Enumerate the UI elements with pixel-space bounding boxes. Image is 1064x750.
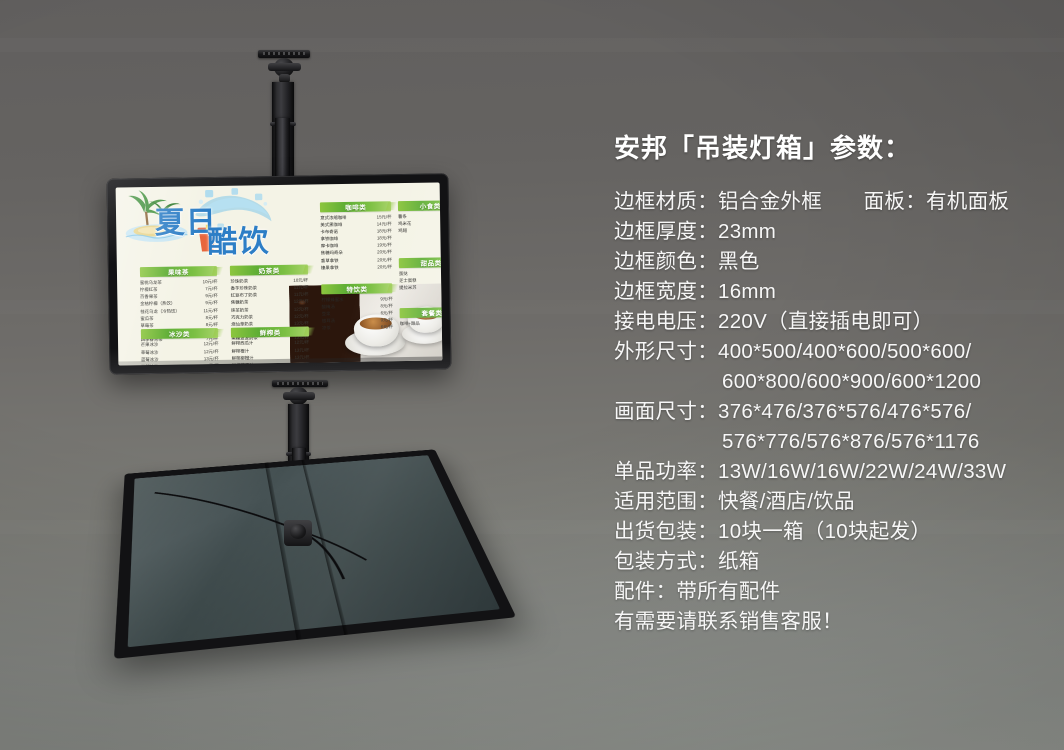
spec-line: 边框颜色：黑色 bbox=[614, 247, 1044, 277]
spec-line: 包装方式：纸箱 bbox=[614, 547, 1044, 577]
menu-section-header: 果味茶 bbox=[140, 266, 218, 277]
spec-title: 安邦「吊装灯箱」参数： bbox=[614, 128, 1044, 165]
spec-line: 配件：带所有配件 bbox=[614, 577, 1044, 607]
menu-item-list: 蛋挞6元/个芝士蛋糕15元/块提拉米苏18元/块 bbox=[399, 269, 443, 291]
menu-item-row: 提拉米苏18元/块 bbox=[399, 283, 442, 291]
menu-section-title: 特饮类 bbox=[321, 283, 392, 294]
menu-item-row: 凉茶6元/杯 bbox=[322, 323, 393, 331]
spec-line: 适用范围：快餐/酒店/饮品 bbox=[614, 487, 1044, 517]
menu-item-list: 咖啡+甜品22元/套 bbox=[400, 319, 443, 327]
menu-section-header: 冰沙类 bbox=[141, 328, 219, 339]
menu-section: 甜品类蛋挞6元/个芝士蛋糕15元/块提拉米苏18元/块 bbox=[399, 257, 443, 291]
menu-section-title: 小食类 bbox=[398, 200, 443, 211]
menu-item-list: 意式浓缩咖啡15元/杯美式黑咖啡14元/杯卡布奇诺18元/杯拿铁咖啡18元/杯摩… bbox=[320, 213, 392, 271]
plate-holes bbox=[277, 382, 323, 385]
plate-holes bbox=[263, 52, 305, 55]
pivot-knob-icon bbox=[268, 63, 301, 71]
mount-plate-icon bbox=[272, 380, 328, 387]
menu-section-header: 套餐类 bbox=[399, 307, 442, 318]
spec-line: 600*800/600*900/600*1200 bbox=[614, 367, 1044, 397]
menu-item-row: 榛果拿铁20元/杯 bbox=[321, 263, 392, 271]
menu-section-title: 奶茶类 bbox=[230, 265, 308, 276]
menu-item-name: 凉茶 bbox=[322, 324, 331, 331]
menu-section-title: 套餐类 bbox=[399, 307, 442, 318]
menu-section-title: 冰沙类 bbox=[141, 328, 219, 339]
menu-item-price: 6元/杯 bbox=[377, 323, 394, 330]
menu-section-header: 咖啡类 bbox=[320, 201, 391, 212]
menu-section: 套餐类咖啡+甜品22元/套 bbox=[399, 307, 442, 327]
menu-section-title: 鲜榨类 bbox=[231, 327, 309, 338]
spec-line-list: 边框材质：铝合金外框 面板：有机面板边框厚度：23mm边框颜色：黑色边框宽度：1… bbox=[614, 187, 1044, 637]
menu-hero-title-2: 酷饮 bbox=[207, 216, 270, 261]
menu-section: 咖啡类意式浓缩咖啡15元/杯美式黑咖啡14元/杯卡布奇诺18元/杯拿铁咖啡18元… bbox=[320, 201, 392, 271]
spec-line: 画面尺寸：376*476/376*576/476*576/ bbox=[614, 397, 1044, 427]
menu-item-list: 薯条10元/份鸡米花12元/份鸡翅15元/份 bbox=[398, 212, 442, 234]
menu-section-header: 甜品类 bbox=[399, 257, 443, 268]
menu-item-name: 提拉米苏 bbox=[399, 284, 417, 291]
menu-item-row: 咖啡+甜品22元/套 bbox=[400, 319, 443, 327]
menu-section-title: 甜品类 bbox=[399, 257, 443, 268]
ceiling-plate-icon bbox=[258, 50, 310, 58]
menu-section-header: 小食类 bbox=[398, 200, 443, 211]
spec-line: 外形尺寸：400*500/400*600/500*600/ bbox=[614, 337, 1044, 367]
spec-line: 边框厚度：23mm bbox=[614, 217, 1044, 247]
menu-item-list: 柠檬蜂蜜水9元/杯酸梅汤8元/杯豆浆6元/杯银耳汤9元/杯凉茶6元/杯 bbox=[321, 295, 393, 332]
spec-line: 单品功率：13W/16W/16W/22W/24W/33W bbox=[614, 457, 1044, 487]
menu-section: 小食类薯条10元/份鸡米花12元/份鸡翅15元/份 bbox=[398, 200, 443, 234]
menu-section-header: 奶茶类 bbox=[230, 265, 308, 276]
menu-item-name: 榛果拿铁 bbox=[321, 264, 339, 271]
spec-line: 接电电压：220V（直接插电即可） bbox=[614, 307, 1044, 337]
spec-line: 边框宽度：16mm bbox=[614, 277, 1044, 307]
background-band bbox=[0, 38, 1064, 52]
menu-section-header: 特饮类 bbox=[321, 283, 392, 294]
spec-line: 出货包装：10块一箱（10块起发） bbox=[614, 517, 1044, 547]
menu-section-title: 咖啡类 bbox=[320, 201, 391, 212]
spec-line: 576*776/576*876/576*1176 bbox=[614, 427, 1044, 457]
menu-panel: 夏日 酷饮 果味茶蜜桃乌龙茶10元/杯柠檬红茶7元/杯百香果茶9元/杯金桔柠檬（… bbox=[116, 182, 443, 365]
menu-item-name: 桂花乌龙（冷热饮） bbox=[140, 307, 180, 315]
menu-item-name: 咖啡+甜品 bbox=[400, 319, 420, 326]
product-photo-scene: 夏日 酷饮 果味茶蜜桃乌龙茶10元/杯柠檬红茶7元/杯百香果茶9元/杯金桔柠檬（… bbox=[0, 0, 1064, 750]
lower-light-box bbox=[126, 452, 446, 684]
spec-line: 边框材质：铝合金外框 面板：有机面板 bbox=[614, 187, 1044, 217]
menu-item-price: 20元/杯 bbox=[373, 263, 392, 270]
pivot-knob-icon bbox=[283, 392, 315, 400]
mount-pole-inner bbox=[275, 118, 290, 184]
menu-item-name: 鸡翅 bbox=[398, 227, 407, 234]
lower-ball-joint-icon bbox=[290, 524, 306, 539]
menu-light-box: 夏日 酷饮 果味茶蜜桃乌龙茶10元/杯柠檬红茶7元/杯百香果茶9元/杯金桔柠檬（… bbox=[106, 173, 451, 374]
spec-line: 有需要请联系销售客服！ bbox=[614, 607, 1044, 637]
menu-section-header: 鲜榨类 bbox=[231, 327, 309, 338]
spec-panel: 安邦「吊装灯箱」参数： 边框材质：铝合金外框 面板：有机面板边框厚度：23mm边… bbox=[614, 128, 1044, 637]
menu-section-title: 果味茶 bbox=[140, 266, 218, 277]
menu-hero-art: 夏日 酷饮 bbox=[116, 185, 292, 259]
menu-section: 特饮类柠檬蜂蜜水9元/杯酸梅汤8元/杯豆浆6元/杯银耳汤9元/杯凉茶6元/杯 bbox=[321, 283, 393, 332]
menu-item-row: 鸡翅15元/份 bbox=[398, 226, 442, 234]
